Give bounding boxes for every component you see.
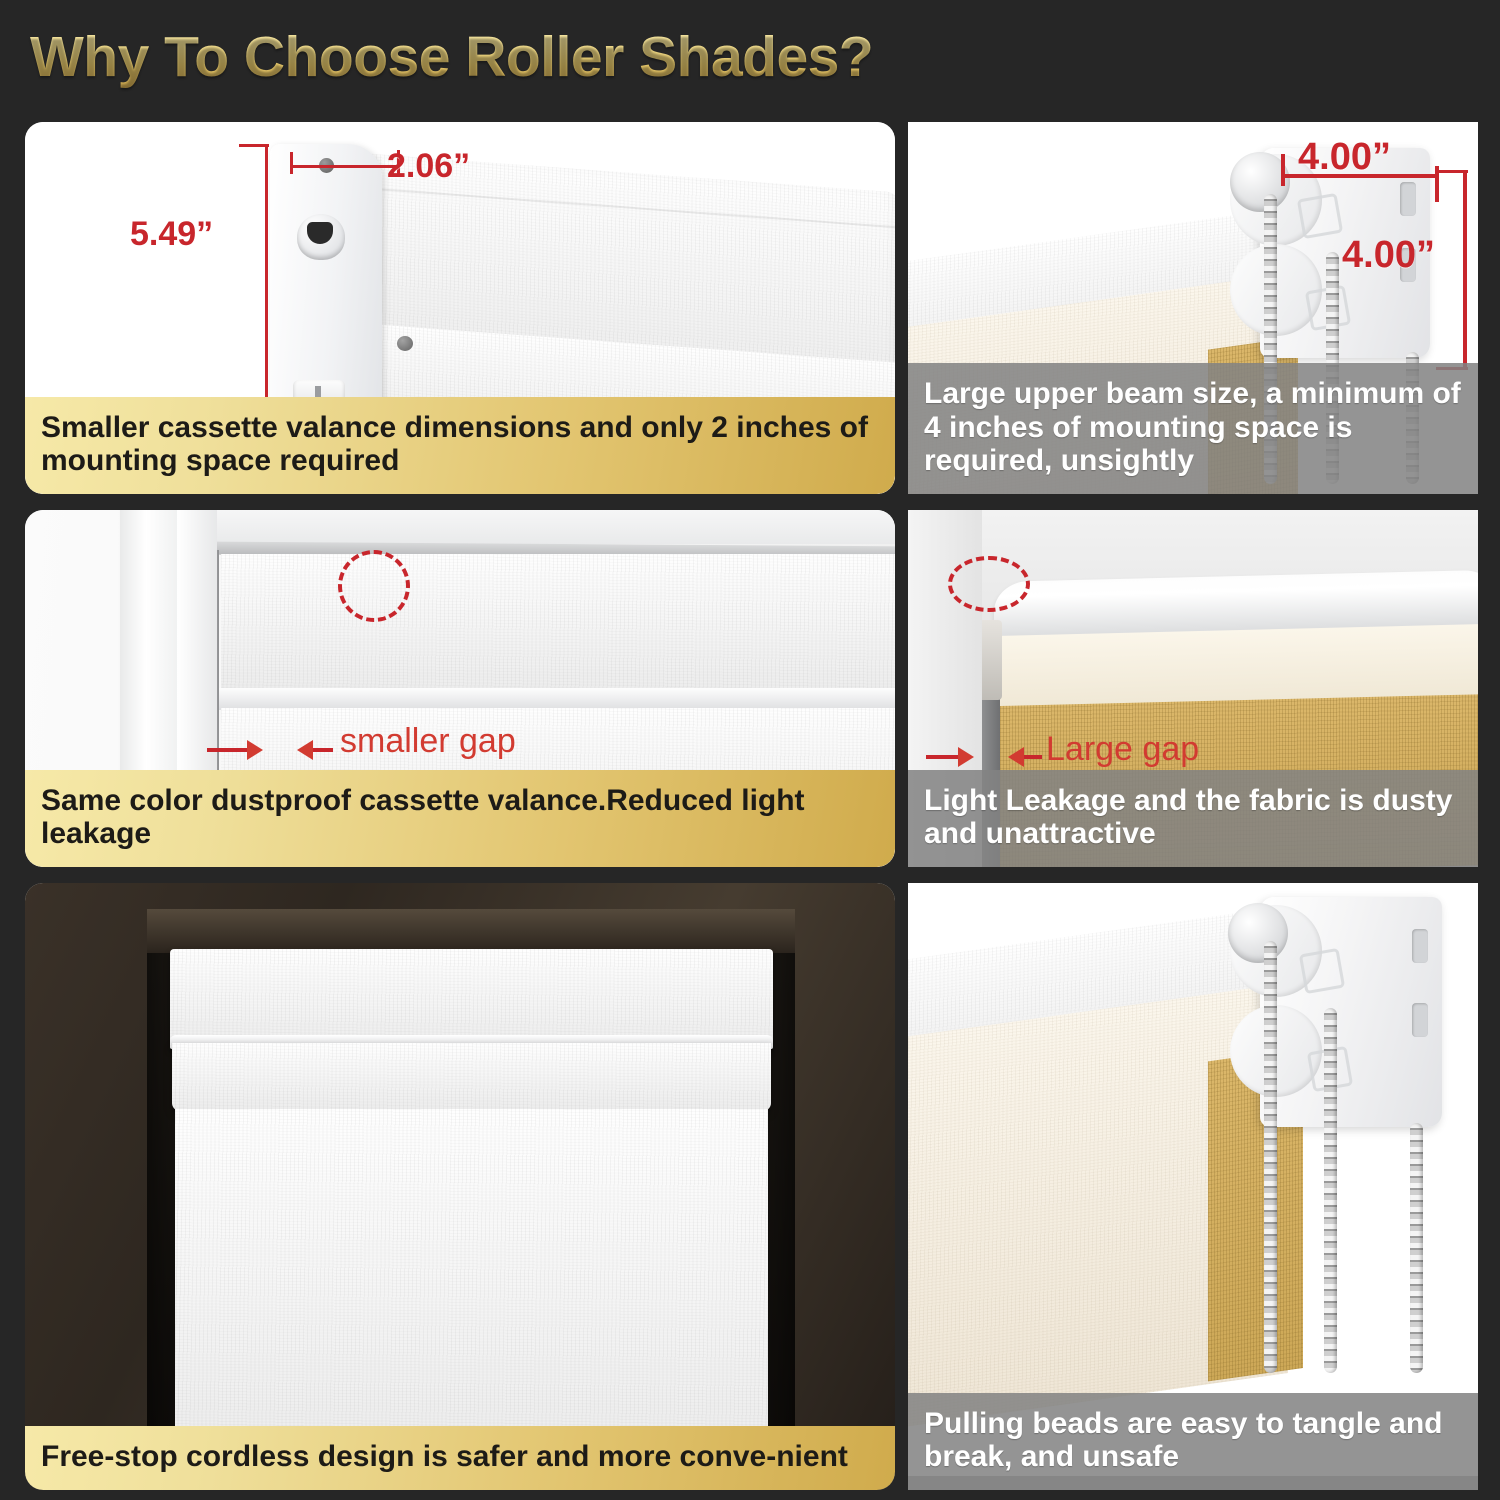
gap-callout-label: smaller gap	[340, 722, 516, 761]
gap-arrow-left-shaft	[207, 748, 251, 752]
panel-caption: Free-stop cordless design is safer and m…	[25, 1426, 895, 1490]
bead-chain	[1264, 941, 1277, 1373]
highlight-circle	[948, 556, 1030, 612]
panel-large-upper-beam: 4.00” 4.00” Large upper beam size, a min…	[908, 122, 1478, 494]
height-dimension-label: 5.49”	[130, 215, 213, 254]
comparison-grid: 5.49” 2.06” Smaller cassette valance dim…	[0, 112, 1500, 1500]
product-photo-window-room-scene	[25, 883, 895, 1490]
cassette-valance	[170, 949, 773, 1049]
panel-light-leakage: Large gap Light Leakage and the fabric i…	[908, 510, 1478, 867]
panel-dustproof-cassette-valance: smaller gap Same color dustproof cassett…	[25, 510, 895, 867]
width-dimension-label: 2.06”	[387, 147, 470, 186]
gap-arrow-right-shaft	[1024, 755, 1042, 759]
panel-caption: Light Leakage and the fabric is dusty an…	[908, 770, 1478, 867]
panel-cassette-valance-dimensions: 5.49” 2.06” Smaller cassette valance dim…	[25, 122, 895, 494]
gap-arrow-right-head	[297, 740, 313, 760]
bead-chain	[1410, 1123, 1423, 1373]
panel-caption: Pulling beads are easy to tangle and bre…	[908, 1393, 1478, 1490]
panel-free-stop-cordless: Free-stop cordless design is safer and m…	[25, 883, 895, 1490]
panel-caption: Smaller cassette valance dimensions and …	[25, 397, 895, 494]
height-dimension-line	[1463, 170, 1467, 370]
gap-callout-label: Large gap	[1046, 730, 1199, 769]
gap-arrow-left-head	[958, 747, 974, 767]
gap-arrow-right-head	[1008, 747, 1024, 767]
panel-caption: Same color dustproof cassette valance.Re…	[25, 770, 895, 867]
height-dimension-tick-top	[239, 144, 269, 147]
highlight-circle	[338, 550, 410, 622]
gap-arrow-left-shaft	[926, 755, 962, 759]
width-dimension-label: 4.00”	[1298, 136, 1391, 179]
width-dimension-tick-left	[1281, 154, 1285, 186]
bead-chain	[1324, 1008, 1337, 1373]
width-dimension-line	[290, 165, 400, 168]
roller-shade-fabric	[175, 1109, 768, 1454]
panel-pulling-beads-unsafe: Pulling beads are easy to tangle and bre…	[908, 883, 1478, 1490]
gap-arrow-left-head	[247, 740, 263, 760]
panel-caption: Large upper beam size, a minimum of 4 in…	[908, 363, 1478, 494]
height-dimension-tick-top	[1436, 170, 1468, 173]
gap-arrow-right-shaft	[313, 748, 333, 752]
page-title: Why To Choose Roller Shades?	[30, 24, 873, 90]
height-dimension-label: 4.00”	[1342, 234, 1435, 277]
width-dimension-tick-left	[290, 152, 293, 174]
